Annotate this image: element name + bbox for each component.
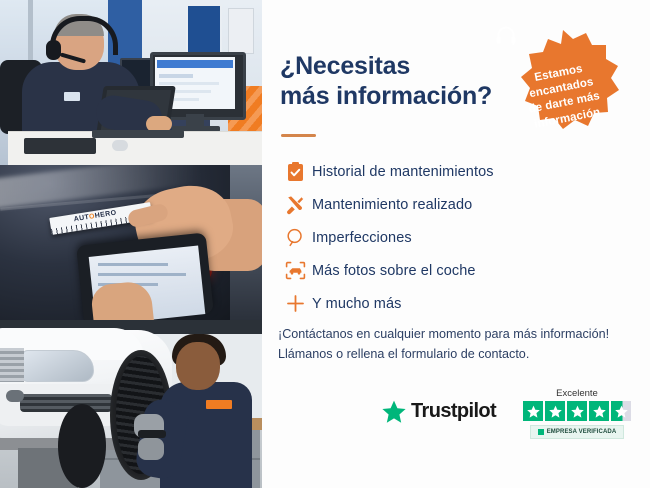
ruler-brand-part1: AUT — [73, 214, 89, 223]
photo-column: AUTOHERO — [0, 0, 262, 488]
wall-poster-2-decor — [228, 8, 254, 54]
magnifier-icon — [278, 228, 312, 247]
info-request-banner: AUTOHERO — [0, 0, 650, 488]
content-panel: ¿Necesitas más información? Estamos enca… — [262, 0, 650, 488]
star-rating — [510, 401, 644, 421]
contact-line-1: ¡Contáctanos en cualquier momento para m… — [278, 324, 638, 344]
star-3-icon — [567, 401, 587, 421]
monitor-row-1-decor — [159, 74, 193, 78]
name-tag-decor — [64, 92, 80, 101]
call-center-agents-photo — [0, 0, 262, 165]
list-item: Y mucho más — [278, 287, 638, 320]
list-item-label: Mantenimiento realizado — [312, 197, 472, 213]
star-1-icon — [523, 401, 543, 421]
tools-cross-icon — [278, 195, 312, 215]
headline-line-1: ¿Necesitas — [280, 52, 410, 80]
title-underline-divider — [281, 134, 316, 137]
list-item: Historial de mantenimientos — [278, 155, 638, 188]
mechanic-sleeve-logo-decor — [206, 400, 232, 409]
front-agent-earcup-decor — [46, 40, 61, 60]
headlight-decor — [22, 350, 94, 382]
mechanic-second-glove-decor — [138, 438, 164, 460]
verified-label: EMPRESA VERIFICADA — [547, 429, 617, 435]
star-4-icon — [589, 401, 609, 421]
trustpilot-rating: Trustpilot Excelente — [382, 388, 644, 446]
air-vent-decor — [20, 394, 112, 412]
trustpilot-wordmark: Trustpilot — [411, 400, 496, 423]
star-2-icon — [545, 401, 565, 421]
laptop-base-decor — [92, 130, 184, 138]
fog-light-decor — [6, 390, 24, 402]
list-item-label: Historial de mantenimientos — [312, 164, 494, 180]
tablet-line-2-decor — [98, 273, 186, 276]
verified-company-badge: EMPRESA VERIFICADA — [530, 425, 624, 439]
list-item-label: Imperfecciones — [312, 230, 412, 246]
car-photo-frame-icon — [278, 261, 312, 280]
list-item-label: Y mucho más — [312, 296, 401, 312]
page-title: ¿Necesitas más información? — [280, 52, 510, 111]
list-item-label: Más fotos sobre el coche — [312, 263, 476, 279]
mechanic-glove-cuff-decor — [138, 430, 166, 438]
monitor-row-2-decor — [159, 82, 219, 85]
headline-line-2: más información? — [280, 82, 510, 112]
keyboard-decor — [24, 138, 96, 154]
clipboard-check-icon — [278, 162, 312, 182]
list-item: Mantenimiento realizado — [278, 188, 638, 221]
plus-icon — [278, 294, 312, 313]
star-5-partial-icon — [611, 401, 631, 421]
trustpilot-star-icon — [382, 400, 406, 423]
promo-starburst-badge: Estamos encantados de darte más informac… — [495, 26, 631, 162]
headset-icon — [495, 26, 517, 45]
mechanic-head-decor — [176, 342, 220, 390]
list-item: Imperfecciones — [278, 221, 638, 254]
list-item: Más fotos sobre el coche — [278, 254, 638, 287]
contact-line-2: Llámanos o rellena el formulario de cont… — [278, 344, 638, 364]
verified-check-icon — [538, 429, 544, 435]
rating-label: Excelente — [522, 388, 632, 399]
feature-list: Historial de mantenimientos Mantenimient… — [278, 155, 638, 320]
grille-decor — [0, 348, 24, 382]
car-inspection-ruler-photo: AUTOHERO — [0, 165, 262, 320]
rear-wheel-decor — [58, 404, 106, 488]
monitor-header-bar-decor — [157, 60, 233, 68]
trustpilot-score-block: Excelente — [510, 388, 644, 439]
tablet-line-1-decor — [98, 263, 168, 266]
trustpilot-logo[interactable]: Trustpilot — [382, 400, 496, 423]
mouse-decor — [112, 140, 128, 151]
contact-text: ¡Contáctanos en cualquier momento para m… — [278, 324, 638, 365]
mechanic-wheel-photo — [0, 320, 262, 488]
